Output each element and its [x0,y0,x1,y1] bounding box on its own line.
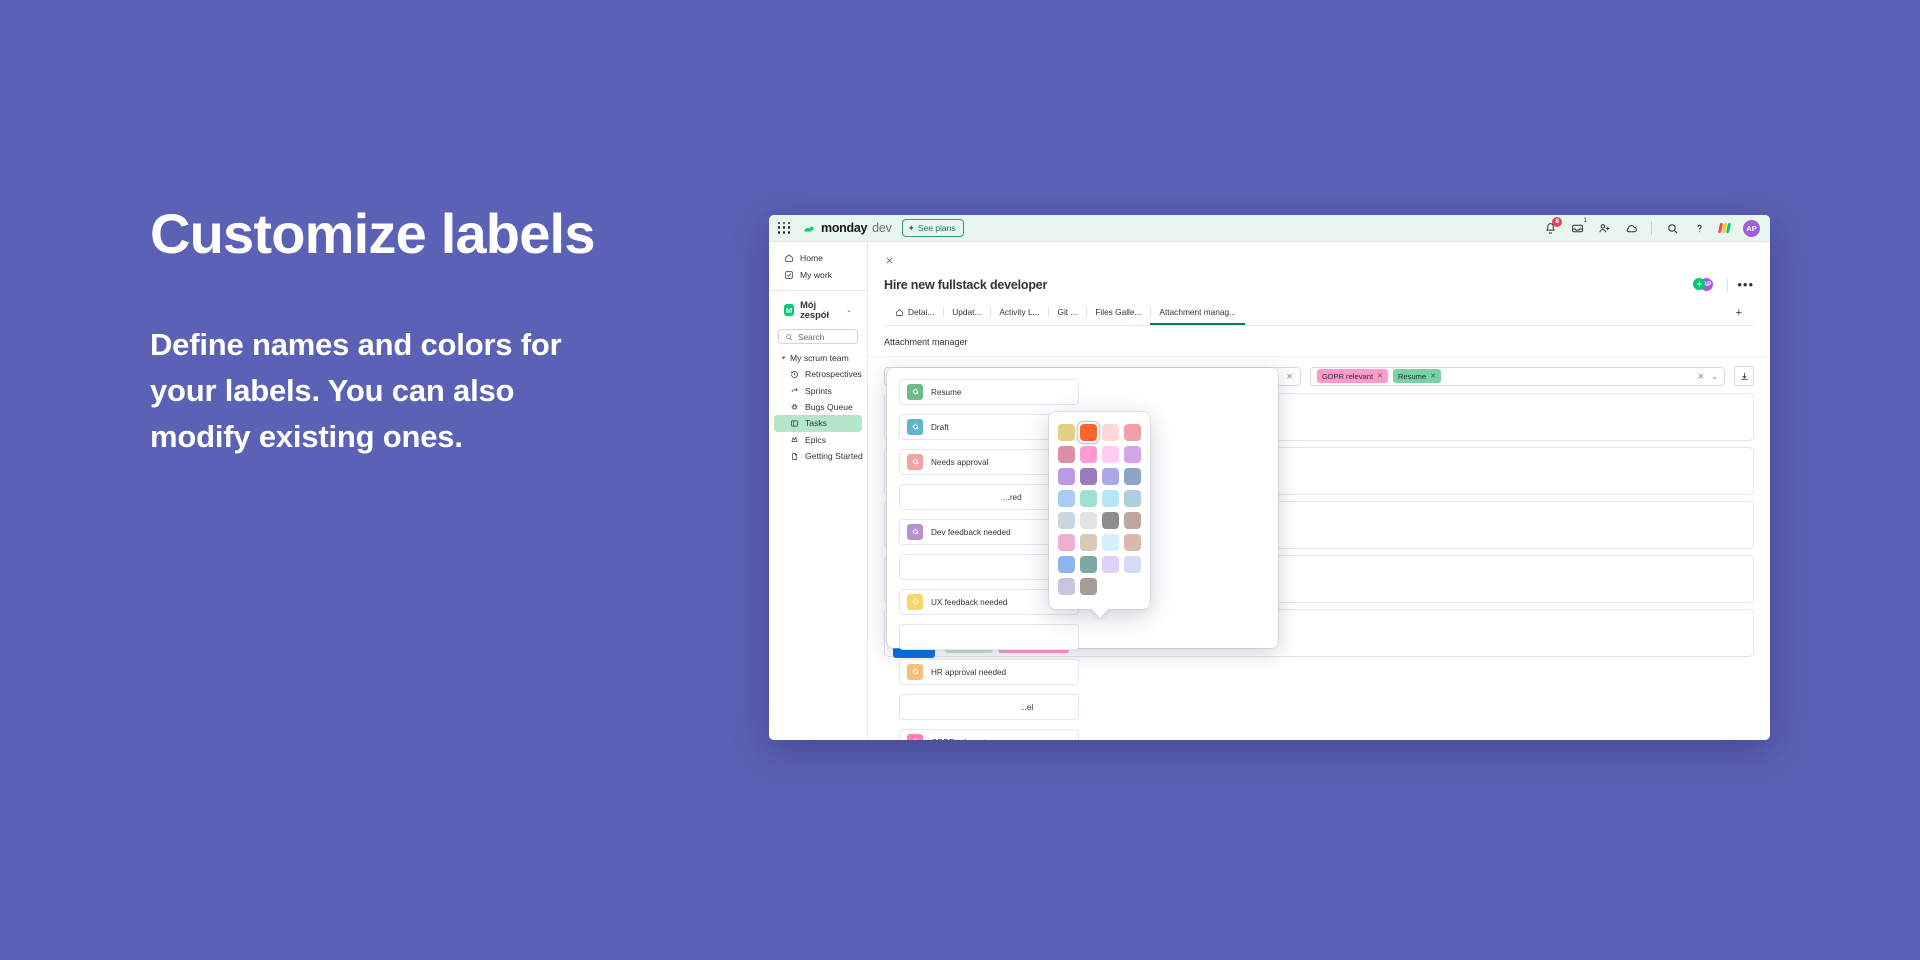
color-swatch-23[interactable] [1124,534,1141,551]
sidebar-item-label: Epics [805,435,826,445]
sparkle-icon: ✦ [908,223,915,234]
notifications-icon[interactable]: 8 [1543,221,1557,235]
color-swatch-7[interactable] [1124,446,1141,463]
label-color-swatch[interactable] [907,384,923,400]
sidebar-item-retrospectives[interactable]: Retrospectives [774,366,862,382]
top-bar: monday dev ✦ See plans 8 1 [769,215,1770,242]
label-option-text: HR approval needed [931,668,1006,677]
label-option-text: Needs approval [931,458,988,467]
color-swatch-2[interactable] [1102,424,1119,441]
close-icon[interactable] [884,255,895,266]
color-swatch-6[interactable] [1102,446,1119,463]
chevron-down-icon[interactable]: ⌄ [846,306,852,314]
sidebar-divider [769,290,867,291]
label-option-resume[interactable]: Resume [899,379,1079,405]
sidebar-item-label: Getting Started [805,451,863,461]
monday-mark-icon [802,221,816,235]
paint-bucket-icon [910,737,920,740]
tab-label: Detai... [908,307,934,317]
bug-icon [790,402,799,411]
sidebar: Home My work M Mój zespół ⌄ Search My [769,242,868,740]
filter-tag-label: Resume [1398,372,1426,381]
color-swatch-9[interactable] [1080,468,1097,485]
filter-tag-label: GDPR relevant [1322,372,1373,381]
color-swatch-22[interactable] [1102,534,1119,551]
sidebar-search-input[interactable]: Search [778,329,858,344]
color-swatch-21[interactable] [1080,534,1097,551]
color-swatch-3[interactable] [1124,424,1141,441]
color-swatch-12[interactable] [1058,490,1075,507]
color-swatch-1[interactable] [1080,424,1097,441]
sidebar-group-my-scrum-team[interactable]: My scrum team [774,349,862,366]
label-color-swatch[interactable] [907,524,923,540]
see-plans-label: See plans [918,223,956,233]
home-icon [895,308,904,317]
invite-member-icon[interactable] [1597,221,1611,235]
sidebar-item-epics[interactable]: Epics [774,432,862,448]
color-swatch-13[interactable] [1080,490,1097,507]
promo-body: Define names and colors for your labels.… [150,322,570,460]
sidebar-item-my-work-label: My work [800,270,832,280]
sidebar-item-label: Tasks [805,418,827,428]
my-work-icon [784,270,794,280]
history-icon [790,370,799,379]
remove-tag-icon[interactable]: ✕ [1430,372,1436,380]
color-swatch-17[interactable] [1080,512,1097,529]
color-swatch-8[interactable] [1058,468,1075,485]
board-icon [790,419,799,428]
tab-git[interactable]: Git ... [1048,301,1086,325]
chevron-down-icon [782,357,786,360]
sidebar-item-getting-started[interactable]: Getting Started [774,448,862,464]
tab-bar: Detai... Updat... Activity L... Git ... … [884,301,1754,326]
doc-icon [790,452,799,461]
color-picker-popup [1049,412,1150,609]
color-swatch-grid [1059,424,1140,595]
color-swatch-26[interactable] [1102,556,1119,573]
tab-details[interactable]: Detai... [886,301,943,325]
sidebar-item-label: Bugs Queue [805,402,853,412]
workspace-badge: M [784,304,794,316]
color-swatch-28[interactable] [1058,578,1075,595]
color-swatch-10[interactable] [1102,468,1119,485]
search-icon[interactable] [1665,221,1679,235]
color-swatch-19[interactable] [1124,512,1141,529]
color-swatch-20[interactable] [1058,534,1075,551]
paint-bucket-icon [910,387,920,397]
tab-label: Activity L... [999,307,1039,317]
label-option-partially-hidden-4[interactable]: ...el [899,694,1079,720]
topbar-actions: 8 1 AP [1543,220,1760,237]
monday-products-icon[interactable] [1719,223,1730,233]
label-option-text: ...el [1020,703,1033,712]
filter-tag-resume[interactable]: Resume ✕ [1393,369,1441,383]
paint-bucket-icon [910,422,920,432]
color-swatch-15[interactable] [1124,490,1141,507]
workspace-selector[interactable]: M Mój zespół ⌄ [774,298,862,322]
sidebar-item-label: Sprints [805,386,832,396]
epics-icon [790,435,799,444]
label-color-swatch[interactable] [907,664,923,680]
sidebar-item-my-work[interactable]: My work [774,266,862,283]
tab-label: Updat... [952,307,981,317]
see-plans-button[interactable]: ✦ See plans [902,219,964,237]
clear-filters-icon[interactable]: ✕ [1698,372,1705,381]
assignee-avatars[interactable]: + AP [1693,277,1718,292]
cloud-icon[interactable] [1624,221,1638,235]
sidebar-search-placeholder: Search [798,332,824,342]
toolbar-divider [1651,221,1652,235]
label-color-swatch[interactable] [907,734,923,740]
promo-panel: Customize labels Define names and colors… [150,205,710,459]
promo-title: Customize labels [150,205,710,264]
page-title: Hire new fullstack developer [884,278,1047,292]
label-color-swatch[interactable] [907,454,923,470]
workspace-name: Mój zespół [800,300,840,320]
tab-label: Files Galle... [1095,307,1141,317]
paint-bucket-icon [910,527,920,537]
color-swatch-27[interactable] [1124,556,1141,573]
header-divider [1727,278,1728,292]
tab-label: Git ... [1057,307,1077,317]
label-option-hidden-3[interactable] [899,624,1079,650]
notifications-badge: 8 [1552,217,1562,227]
paint-bucket-icon [910,667,920,677]
color-swatch-14[interactable] [1102,490,1119,507]
color-swatch-5[interactable] [1080,446,1097,463]
color-swatch-25[interactable] [1080,556,1097,573]
chevron-down-icon[interactable]: ⌄ [1711,372,1718,381]
apps-grid-icon[interactable] [778,222,791,235]
task-header: Hire new fullstack developer + AP ••• De… [868,242,1770,326]
label-color-swatch[interactable] [907,419,923,435]
clear-search-icon[interactable]: ✕ [1286,372,1293,381]
color-swatch-24[interactable] [1058,556,1075,573]
color-swatch-4[interactable] [1058,446,1075,463]
add-tab-button[interactable]: + [1724,301,1754,325]
label-option-gdpr-relevant[interactable]: GDPR relevant [899,729,1079,740]
sidebar-item-sprints[interactable]: Sprints [774,382,862,398]
sidebar-group-label: My scrum team [790,353,849,363]
search-icon [785,333,793,341]
label-option-hr-approval-needed[interactable]: HR approval needed [899,659,1079,685]
label-option-text: ...red [1003,493,1022,502]
remove-tag-icon[interactable]: ✕ [1377,372,1383,380]
logo-product: dev [872,221,892,235]
label-option-text: UX feedback needed [931,598,1007,607]
tab-label: Attachment manag... [1159,307,1236,317]
logo-text: monday [821,221,867,235]
label-option-text: GDPR relevant [931,738,986,741]
label-option-text: Resume [931,388,962,397]
tab-attachment-manager[interactable]: Attachment manag... [1150,301,1245,325]
tab-activity-log[interactable]: Activity L... [990,301,1048,325]
attachment-manager-heading: Attachment manager [868,326,1770,356]
sidebar-item-home-label: Home [800,253,823,263]
label-color-swatch[interactable] [907,594,923,610]
label-option-text: Draft [931,423,949,432]
tag-filter-input[interactable]: GDPR relevant ✕ Resume ✕ ✕ ⌄ [1310,367,1725,386]
download-button[interactable] [1734,366,1754,386]
color-swatch-11[interactable] [1124,468,1141,485]
paint-bucket-icon [910,457,920,467]
inbox-badge: 1 [1580,216,1590,226]
monday-logo[interactable]: monday dev [802,221,892,235]
app-window: monday dev ✦ See plans 8 1 [769,215,1770,740]
sidebar-item-bugs-queue[interactable]: Bugs Queue [774,399,862,415]
tab-files-gallery[interactable]: Files Galle... [1086,301,1150,325]
label-option-text: Dev feedback needed [931,528,1011,537]
paint-bucket-icon [910,597,920,607]
sidebar-item-label: Retrospectives [805,369,862,379]
download-icon [1739,371,1750,382]
main-panel: Hire new fullstack developer + AP ••• De… [868,242,1770,740]
color-swatch-16[interactable] [1058,512,1075,529]
help-icon[interactable] [1692,221,1706,235]
sprint-icon [790,386,799,395]
user-avatar[interactable]: AP [1743,220,1760,237]
color-swatch-18[interactable] [1102,512,1119,529]
home-icon [784,253,794,263]
tab-updates[interactable]: Updat... [943,301,990,325]
sidebar-item-tasks[interactable]: Tasks [774,415,862,431]
more-options-button[interactable]: ••• [1737,281,1754,289]
color-swatch-0[interactable] [1058,424,1075,441]
color-swatch-29[interactable] [1080,578,1097,595]
inbox-icon[interactable]: 1 [1570,221,1584,235]
sidebar-item-home[interactable]: Home [774,249,862,266]
filter-tag-gdpr-relevant[interactable]: GDPR relevant ✕ [1317,369,1388,383]
